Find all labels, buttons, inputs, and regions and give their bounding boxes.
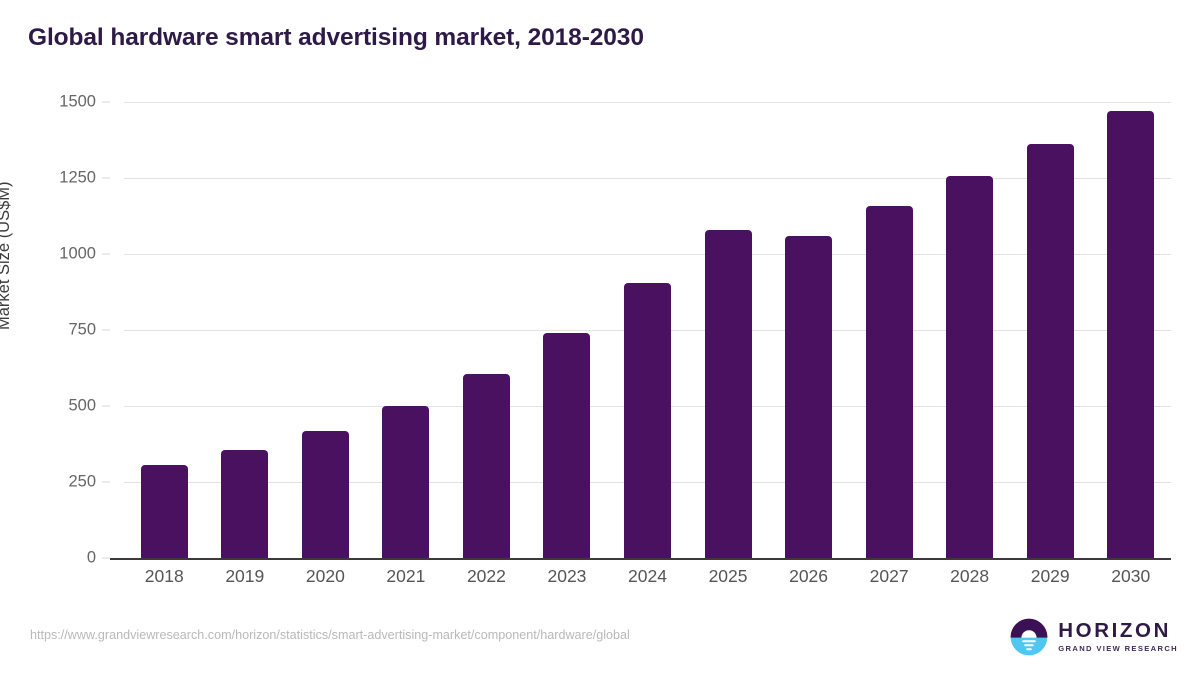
horizon-sun-circle-icon <box>1009 617 1049 657</box>
y-tick-mark <box>102 558 110 559</box>
y-tick-mark <box>102 406 110 407</box>
logo-text: HORIZON GRAND VIEW RESEARCH <box>1058 621 1178 653</box>
x-tick-label-2023: 2023 <box>547 566 586 587</box>
y-tick-label: 500 <box>68 397 96 416</box>
y-tick-mark <box>102 482 110 483</box>
bar-2024[interactable] <box>624 283 671 558</box>
y-tick-mark <box>102 178 110 179</box>
gridline <box>124 178 1171 179</box>
y-tick-label: 0 <box>87 549 96 568</box>
y-axis-ticks: 0250500750100012501500 <box>0 102 110 558</box>
x-axis-line <box>110 558 1171 560</box>
y-tick-mark <box>102 254 110 255</box>
gridline <box>124 254 1171 255</box>
chart-figure: Global hardware smart advertising market… <box>0 0 1200 675</box>
x-tick-label-2026: 2026 <box>789 566 828 587</box>
y-tick-label: 1000 <box>59 245 96 264</box>
plot-area <box>124 102 1171 558</box>
x-tick-label-2019: 2019 <box>225 566 264 587</box>
logo-tagline: GRAND VIEW RESEARCH <box>1058 645 1178 653</box>
x-tick-label-2022: 2022 <box>467 566 506 587</box>
logo-wordmark: HORIZON <box>1058 621 1178 642</box>
bar-2022[interactable] <box>463 374 510 558</box>
y-tick-label: 750 <box>68 321 96 340</box>
y-tick-label: 1500 <box>59 93 96 112</box>
page-title: Global hardware smart advertising market… <box>28 24 644 52</box>
x-tick-label-2029: 2029 <box>1031 566 1070 587</box>
bar-2029[interactable] <box>1027 144 1074 558</box>
x-tick-label-2027: 2027 <box>870 566 909 587</box>
x-tick-label-2025: 2025 <box>709 566 748 587</box>
x-tick-label-2020: 2020 <box>306 566 345 587</box>
bar-2027[interactable] <box>866 206 913 558</box>
y-tick-mark <box>102 102 110 103</box>
brand-logo: HORIZON GRAND VIEW RESEARCH <box>1009 617 1178 657</box>
source-url[interactable]: https://www.grandviewresearch.com/horizo… <box>30 628 630 642</box>
bar-2030[interactable] <box>1107 111 1154 558</box>
bar-2025[interactable] <box>705 230 752 558</box>
x-axis-ticks: 2018201920202021202220232024202520262027… <box>124 566 1171 600</box>
x-tick-label-2028: 2028 <box>950 566 989 587</box>
x-tick-label-2018: 2018 <box>145 566 184 587</box>
bar-2018[interactable] <box>141 465 188 558</box>
y-tick-mark <box>102 330 110 331</box>
y-tick-label: 250 <box>68 473 96 492</box>
bar-2019[interactable] <box>221 450 268 558</box>
x-tick-label-2030: 2030 <box>1111 566 1150 587</box>
bar-2028[interactable] <box>946 176 993 558</box>
bar-2020[interactable] <box>302 431 349 558</box>
x-tick-label-2021: 2021 <box>386 566 425 587</box>
gridline <box>124 102 1171 103</box>
bar-2023[interactable] <box>543 333 590 558</box>
bar-2021[interactable] <box>382 406 429 558</box>
x-tick-label-2024: 2024 <box>628 566 667 587</box>
y-tick-label: 1250 <box>59 169 96 188</box>
bar-2026[interactable] <box>785 236 832 558</box>
